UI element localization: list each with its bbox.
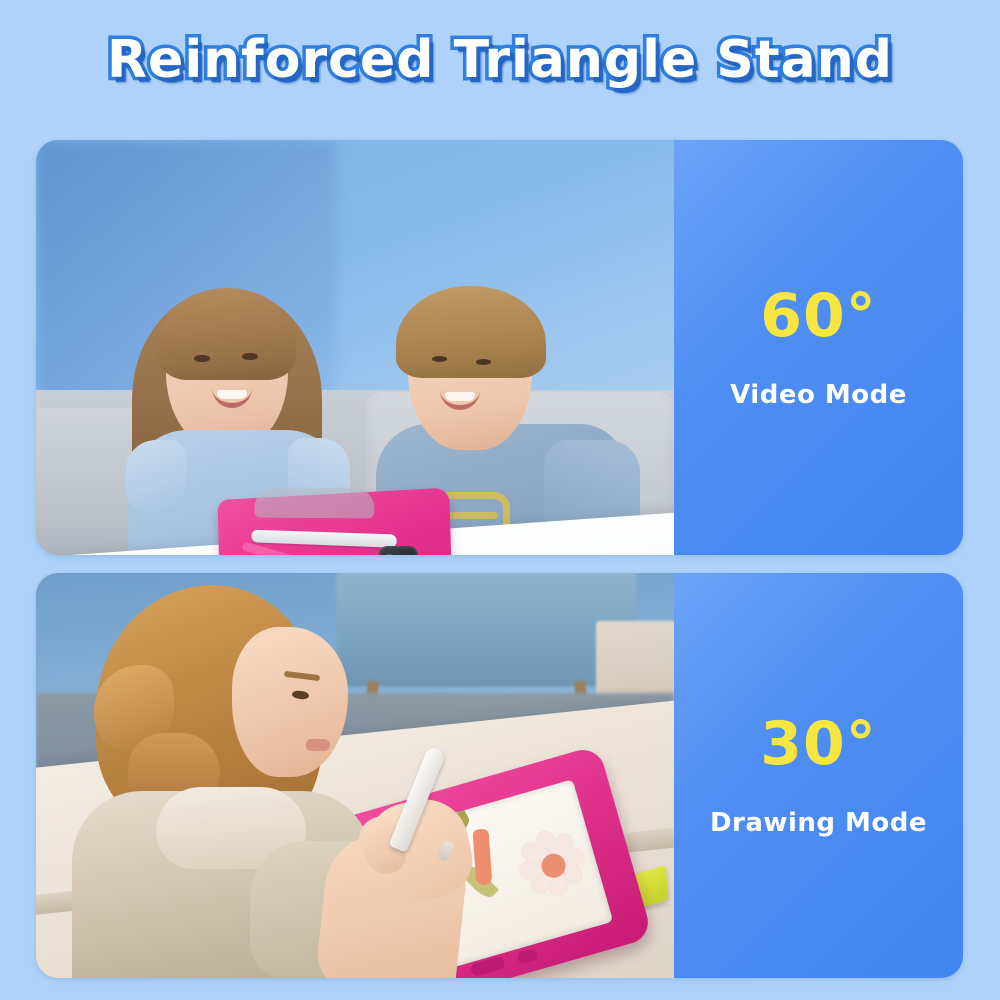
- tablet-case-video: [212, 474, 448, 555]
- girl-eye-left: [194, 355, 210, 362]
- mode-label-drawing: Drawing Mode: [710, 808, 927, 838]
- angle-panel-drawing: 30° Drawing Mode: [674, 573, 963, 978]
- photo-video-mode: [36, 140, 674, 555]
- page-title-container: Reinforced Triangle Stand: [0, 34, 1000, 86]
- camera-cutout: [379, 546, 418, 555]
- artwork-petal: [472, 829, 492, 886]
- blue-sofa: [336, 573, 636, 687]
- case-handle-opening: [254, 488, 374, 519]
- angle-value-drawing: 30°: [760, 714, 877, 774]
- feature-card-video: 60° Video Mode: [36, 140, 963, 555]
- girl-eye-right: [242, 353, 258, 360]
- mode-label-video: Video Mode: [730, 380, 907, 410]
- boy-eye-right: [476, 359, 491, 365]
- angle-value-video: 60°: [760, 286, 877, 346]
- girl-sleeve-left: [126, 440, 186, 512]
- photo-drawing-mode: [36, 573, 674, 978]
- feature-card-drawing: 30° Drawing Mode: [36, 573, 963, 978]
- page-title: Reinforced Triangle Stand: [107, 34, 893, 86]
- boy-eye-left: [432, 356, 447, 362]
- child-lips: [306, 739, 330, 751]
- artwork-flower: [507, 819, 599, 911]
- angle-panel-video: 60° Video Mode: [674, 140, 963, 555]
